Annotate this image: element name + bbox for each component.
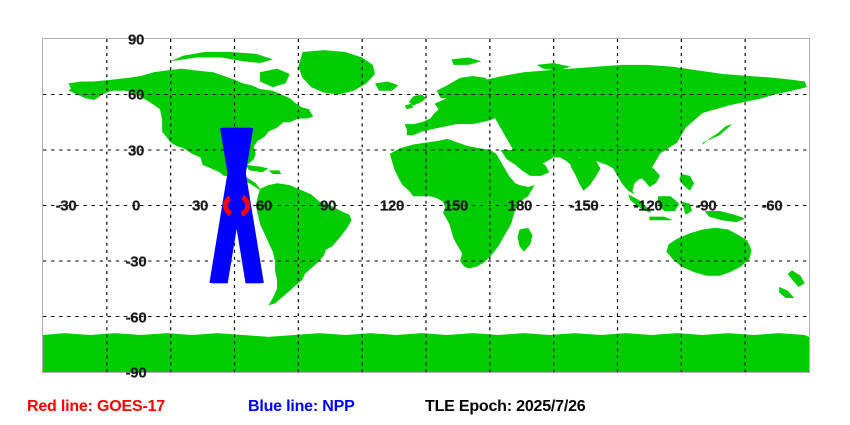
- baffin-island: [260, 69, 290, 88]
- ytick-label--30: -30: [126, 254, 147, 271]
- xtick-label-60: 60: [256, 198, 272, 215]
- xtick-label-120: 120: [380, 198, 404, 215]
- xtick-label-150: 150: [444, 198, 468, 215]
- ireland: [405, 104, 414, 110]
- ytick-label-30: 30: [128, 143, 144, 160]
- legend: Red line: GOES-17 Blue line: NPP TLE Epo…: [0, 392, 850, 425]
- ytick-label--90: -90: [126, 365, 147, 382]
- iceland: [375, 82, 398, 91]
- continents: [43, 50, 809, 372]
- svalbard: [452, 58, 482, 65]
- central-america: [230, 174, 262, 191]
- cuba: [245, 165, 268, 172]
- greenland: [298, 50, 375, 94]
- xtick-label--150: -150: [570, 198, 599, 215]
- sulawesi: [681, 202, 692, 215]
- british-isles: [409, 95, 426, 106]
- hispaniola: [269, 170, 282, 174]
- india: [571, 157, 601, 190]
- xtick-label-180: 180: [508, 198, 532, 215]
- xtick-label--120: -120: [634, 198, 663, 215]
- ytick-label-90: 90: [128, 32, 144, 49]
- new-zealand-south: [779, 287, 794, 298]
- japan: [703, 124, 733, 144]
- world-landmass-layer: [43, 39, 809, 372]
- xtick-label-90: 90: [320, 198, 336, 215]
- xtick-label-30: 30: [192, 198, 208, 215]
- legend-tle-epoch: TLE Epoch: 2025/7/26: [425, 398, 586, 416]
- map-canvas: [43, 39, 809, 372]
- xtick-label-0: 0: [132, 198, 140, 215]
- xtick-label--30: -30: [56, 198, 77, 215]
- xtick-label--90: -90: [696, 198, 717, 215]
- australia: [666, 228, 751, 276]
- java: [649, 217, 672, 221]
- madagascar: [517, 228, 532, 252]
- ytick-label-60: 60: [128, 87, 144, 104]
- satellite-ground-track-map: -30 0 30 60 90 120 150 180 -150 -120 -90…: [0, 0, 850, 390]
- legend-blue-line-npp: Blue line: NPP: [248, 398, 355, 416]
- xtick-label--60: -60: [762, 198, 783, 215]
- canadian-arctic-islands: [171, 52, 273, 63]
- philippines: [679, 174, 694, 191]
- legend-red-line-goes17: Red line: GOES-17: [27, 398, 165, 416]
- new-zealand: [788, 270, 805, 287]
- ytick-label--60: -60: [126, 310, 147, 327]
- antarctica: [43, 333, 809, 372]
